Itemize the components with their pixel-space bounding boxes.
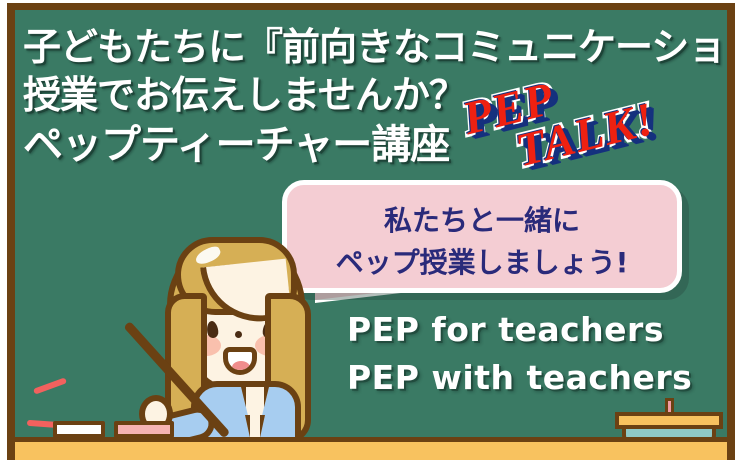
english-slogan-line-1: PEP for teachers: [347, 310, 664, 349]
pep-teacher-banner: 子どもたちに『前向きなコミュニケーション』 授業でお伝えしませんか？ ペップティ…: [0, 0, 742, 460]
headline-line-3: ペップティーチャー講座: [23, 112, 449, 170]
speech-bubble-line-2: ペップ授業しましょう!: [287, 241, 677, 281]
chalk-basket: [615, 398, 723, 440]
speech-bubble-line-1: 私たちと一緒に: [287, 199, 677, 239]
pink-chalk: [114, 421, 174, 438]
english-slogan-line-2: PEP with teachers: [347, 358, 692, 397]
chalk-ledge: [15, 437, 727, 460]
chalkboard-surface: 子どもたちに『前向きなコミュニケーション』 授業でお伝えしませんか？ ペップティ…: [15, 10, 727, 460]
basket-rim: [615, 412, 723, 429]
white-chalk: [53, 421, 105, 438]
headline-line-2: 授業でお伝えしませんか？: [23, 64, 466, 119]
motion-line-icon: [33, 377, 67, 394]
teacher-nose: [235, 331, 242, 338]
teacher-tongue: [232, 361, 250, 374]
